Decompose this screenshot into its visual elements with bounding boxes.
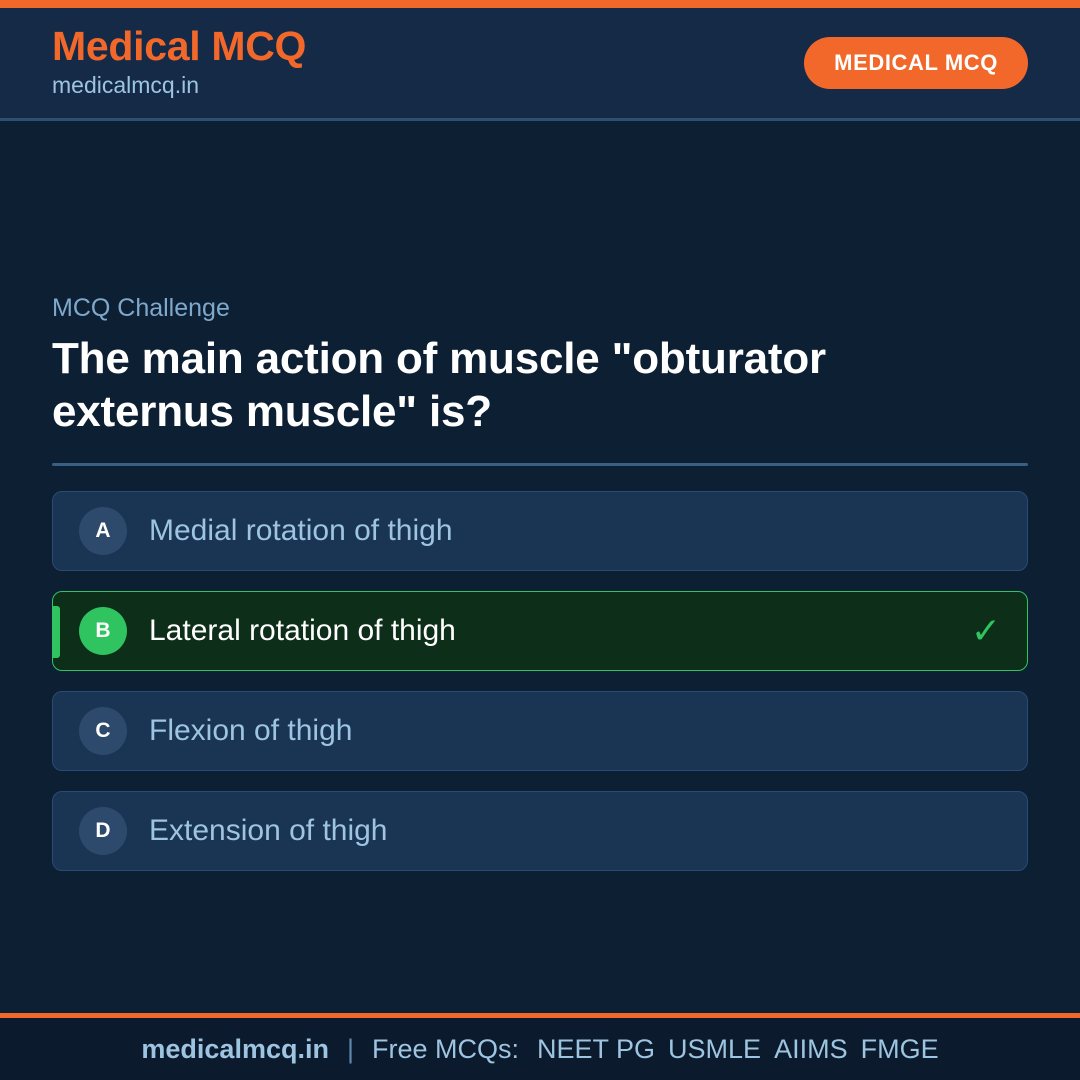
- page-footer: medicalmcq.in | Free MCQs: NEET PG USMLE…: [0, 1013, 1080, 1080]
- footer-exam-list: NEET PG USMLE AIIMS FMGE: [537, 1034, 939, 1065]
- brand-subtitle: medicalmcq.in: [52, 70, 306, 101]
- option-label: Extension of thigh: [149, 816, 388, 846]
- question-kicker: MCQ Challenge: [52, 293, 1028, 323]
- option-letter-badge: A: [79, 507, 127, 555]
- option-label: Flexion of thigh: [149, 716, 352, 746]
- footer-exam: FMGE: [861, 1034, 939, 1065]
- question-text: The main action of muscle "obturator ext…: [52, 333, 992, 439]
- check-icon: ✓: [971, 613, 1001, 649]
- brand-title: Medical MCQ: [52, 25, 306, 68]
- main-content: MCQ Challenge The main action of muscle …: [0, 121, 1080, 1013]
- option-label: Medial rotation of thigh: [149, 516, 453, 546]
- question-block: MCQ Challenge The main action of muscle …: [52, 293, 1028, 439]
- options-list: A Medial rotation of thigh B Lateral rot…: [52, 491, 1028, 871]
- mcq-card: Medical MCQ medicalmcq.in MEDICAL MCQ MC…: [0, 0, 1080, 1080]
- option-c[interactable]: C Flexion of thigh: [52, 691, 1028, 771]
- option-b[interactable]: B Lateral rotation of thigh ✓: [52, 591, 1028, 671]
- question-divider: [52, 463, 1028, 466]
- footer-exam: NEET PG: [537, 1034, 655, 1065]
- footer-exam: USMLE: [668, 1034, 761, 1065]
- page-header: Medical MCQ medicalmcq.in MEDICAL MCQ: [0, 8, 1080, 121]
- footer-separator: |: [347, 1034, 354, 1065]
- brand-block: Medical MCQ medicalmcq.in: [52, 25, 306, 101]
- option-a[interactable]: A Medial rotation of thigh: [52, 491, 1028, 571]
- option-label: Lateral rotation of thigh: [149, 616, 456, 646]
- footer-label: Free MCQs:: [372, 1034, 519, 1065]
- option-letter-badge: B: [79, 607, 127, 655]
- footer-text: medicalmcq.in | Free MCQs: NEET PG USMLE…: [141, 1034, 938, 1065]
- option-letter-badge: C: [79, 707, 127, 755]
- top-accent-bar: [0, 0, 1080, 8]
- option-d[interactable]: D Extension of thigh: [52, 791, 1028, 871]
- option-letter-badge: D: [79, 807, 127, 855]
- footer-site-name: medicalmcq.in: [141, 1034, 329, 1065]
- footer-exam: AIIMS: [774, 1034, 848, 1065]
- header-badge: MEDICAL MCQ: [804, 37, 1028, 89]
